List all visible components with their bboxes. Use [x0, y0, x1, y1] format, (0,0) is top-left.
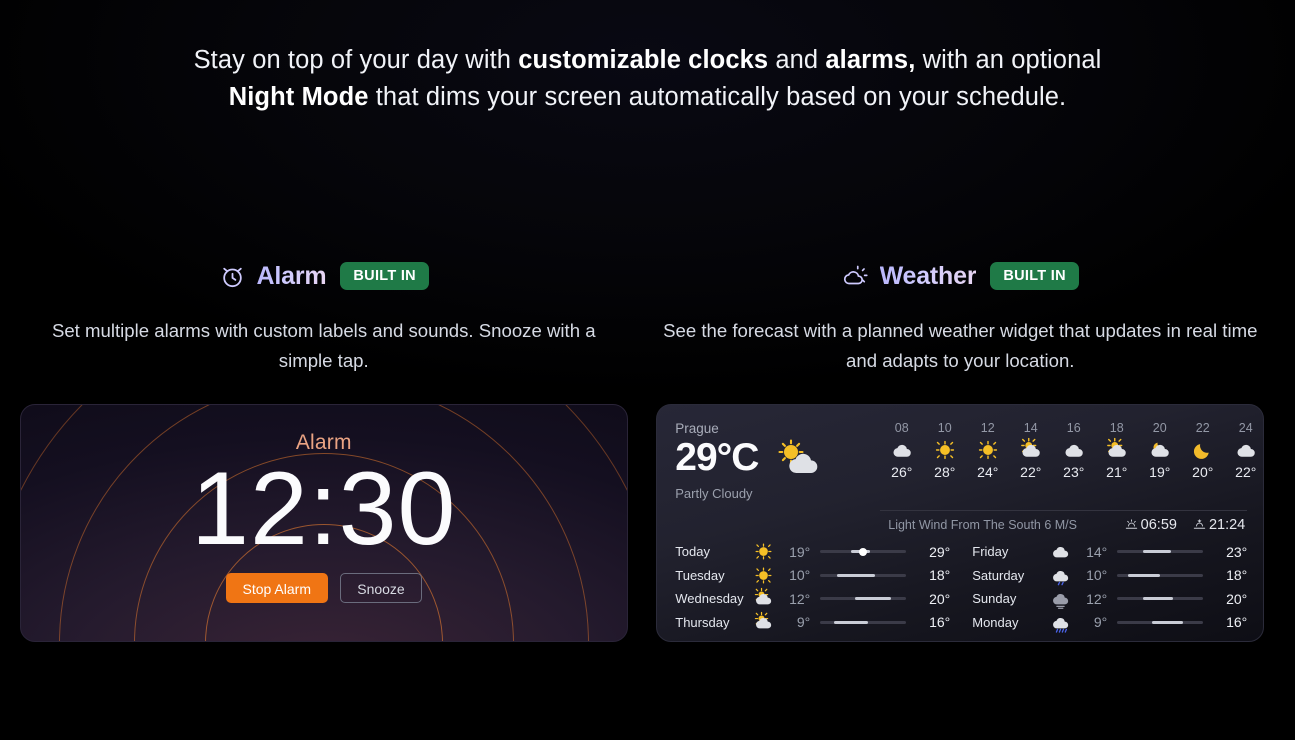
daily-column-left: Today19°29°Tuesday10°18°Wednesday12°20°T… [675, 540, 950, 634]
daily-low-temperature: 9° [776, 614, 810, 630]
weather-condition-text: Partly Cloudy [675, 486, 880, 501]
hourly-temperature: 21° [1095, 464, 1138, 480]
hourly-sun-cloud-icon [1095, 437, 1138, 463]
daily-high-temperature: 18° [1213, 567, 1247, 583]
headline-text: and [768, 46, 825, 74]
hourly-temperature: 22° [1224, 464, 1264, 480]
daily-low-temperature: 12° [1073, 591, 1107, 607]
daily-high-temperature: 18° [916, 567, 950, 583]
daily-fog-icon [1047, 588, 1073, 609]
weather-current-temperature: 29°C [675, 437, 758, 480]
daily-temperature-bar [1117, 621, 1203, 624]
sunrise-item: 06:59 [1125, 517, 1177, 533]
snooze-button[interactable]: Snooze [340, 573, 422, 603]
daily-low-temperature: 12° [776, 591, 810, 607]
hourly-temperature: 20° [1181, 464, 1224, 480]
daily-high-temperature: 16° [916, 614, 950, 630]
headline-text: with an optional [915, 46, 1101, 74]
daily-high-temperature: 29° [916, 544, 950, 560]
alarm-widget-card: Alarm 12:30 Stop Alarm Snooze [20, 404, 628, 642]
hourly-forecast-item: 1821° [1095, 421, 1138, 480]
hourly-time: 14 [1009, 421, 1052, 435]
hourly-cloud-icon [1224, 437, 1264, 463]
headline-text: that dims your screen automatically base… [369, 83, 1067, 111]
hourly-cloud-icon [880, 437, 923, 463]
daily-temperature-range [1143, 597, 1173, 600]
hourly-sun-icon [923, 437, 966, 463]
hourly-time: 18 [1095, 421, 1138, 435]
weather-current-block: Prague 29°C [675, 419, 880, 501]
feature-description-weather: See the forecast with a planned weather … [658, 316, 1264, 376]
badge-built-in-weather: BUILT IN [990, 262, 1079, 291]
daily-day-name: Saturday [972, 568, 1047, 583]
daily-high-temperature: 20° [1213, 591, 1247, 607]
daily-temperature-bar [1117, 574, 1203, 577]
daily-forecast-row: Friday14°23° [972, 540, 1247, 564]
hourly-forecast-item: 1623° [1052, 421, 1095, 480]
hourly-time: 10 [923, 421, 966, 435]
daily-sun-cloud-icon [750, 588, 776, 609]
weather-city-name: Prague [675, 421, 880, 436]
daily-forecast-row: Tuesday10°18° [675, 563, 950, 587]
hourly-temperature: 28° [923, 464, 966, 480]
daily-temperature-bar [1117, 597, 1203, 600]
daily-temperature-range [855, 597, 891, 600]
weather-widget-card: Prague 29°C [656, 404, 1264, 642]
daily-day-name: Monday [972, 615, 1047, 630]
alarm-time-display: 12:30 [191, 451, 456, 567]
hourly-forecast-item: 0826° [880, 421, 923, 480]
stop-alarm-button[interactable]: Stop Alarm [226, 573, 328, 603]
daily-low-temperature: 14° [1073, 544, 1107, 560]
feature-columns: Alarm BUILT IN Set multiple alarms with … [0, 258, 1295, 642]
sun-behind-cloud-icon [842, 263, 869, 290]
hourly-temperature: 26° [880, 464, 923, 480]
hourly-temperature: 23° [1052, 464, 1095, 480]
hourly-moon-cloud-icon [1138, 437, 1181, 463]
daily-day-name: Wednesday [675, 591, 750, 606]
daily-sun-icon [750, 565, 776, 586]
daily-temperature-range [1128, 574, 1160, 577]
feature-header-weather: Weather BUILT IN [842, 258, 1079, 294]
daily-high-temperature: 23° [1213, 544, 1247, 560]
weather-wind-text: Light Wind From The South 6 M/S [888, 518, 1077, 532]
daily-temperature-bar [1117, 550, 1203, 553]
hourly-temperature: 24° [966, 464, 1009, 480]
daily-forecast-row: Today19°29° [675, 540, 950, 564]
hourly-forecast-item: 2019° [1138, 421, 1181, 480]
daily-day-name: Today [675, 544, 750, 559]
sunset-time: 21:24 [1209, 517, 1245, 533]
sunrise-time: 06:59 [1141, 517, 1177, 533]
badge-built-in-alarm: BUILT IN [340, 262, 429, 291]
hourly-time: 20 [1138, 421, 1181, 435]
sunset-icon [1193, 518, 1206, 531]
daily-current-marker [859, 548, 867, 556]
hourly-time: 24 [1224, 421, 1264, 435]
daily-forecast-row: Saturday10°18° [972, 563, 1247, 587]
daily-temperature-bar [820, 597, 906, 600]
daily-temperature-bar [820, 550, 906, 553]
sunrise-icon [1125, 518, 1138, 531]
daily-rain-light-icon [1047, 565, 1073, 586]
hourly-time: 22 [1181, 421, 1224, 435]
daily-forecast-row: Sunday12°20° [972, 587, 1247, 611]
weather-sun-times: 06:59 21:24 [1125, 517, 1246, 533]
hourly-sun-cloud-icon [1009, 437, 1052, 463]
hourly-forecast-item: 1028° [923, 421, 966, 480]
daily-sun-cloud-icon [750, 612, 776, 633]
headline-line2: Night Mode that dims your screen automat… [229, 83, 1067, 111]
feature-column-alarm: Alarm BUILT IN Set multiple alarms with … [0, 258, 648, 642]
headline-emphasis-alarms: alarms, [825, 46, 915, 74]
daily-temperature-range [1143, 550, 1171, 553]
hourly-sun-icon [966, 437, 1009, 463]
daily-temperature-range [837, 574, 875, 577]
hourly-temperature: 22° [1009, 464, 1052, 480]
hourly-forecast-item: 2422° [1224, 421, 1264, 480]
daily-day-name: Friday [972, 544, 1047, 559]
daily-high-temperature: 16° [1213, 614, 1247, 630]
hourly-forecast-item: 2220° [1181, 421, 1224, 480]
hourly-forecast-item: 1422° [1009, 421, 1052, 480]
daily-low-temperature: 10° [1073, 567, 1107, 583]
feature-header-alarm: Alarm BUILT IN [219, 258, 429, 294]
daily-low-temperature: 10° [776, 567, 810, 583]
daily-temperature-range [1152, 621, 1183, 624]
weather-meta-row: Light Wind From The South 6 M/S 06:59 [880, 511, 1247, 533]
feature-column-weather: Weather BUILT IN See the forecast with a… [648, 258, 1295, 642]
alarm-clock-icon [219, 263, 246, 290]
daily-forecast-row: Wednesday12°20° [675, 587, 950, 611]
alarm-action-buttons: Stop Alarm Snooze [226, 573, 422, 603]
feature-title-weather: Weather [880, 262, 977, 291]
hourly-forecast-item: 1224° [966, 421, 1009, 480]
feature-description-alarm: Set multiple alarms with custom labels a… [24, 316, 624, 376]
hourly-cloud-icon [1052, 437, 1095, 463]
daily-day-name: Tuesday [675, 568, 750, 583]
daily-temperature-bar [820, 574, 906, 577]
daily-sun-icon [750, 541, 776, 562]
headline-text: Stay on top of your day with [194, 46, 519, 74]
weather-current-row: 29°C [675, 437, 880, 480]
page-root: Stay on top of your day with customizabl… [0, 0, 1295, 740]
weather-daily-forecast: Today19°29°Tuesday10°18°Wednesday12°20°T… [675, 540, 1247, 634]
daily-day-name: Sunday [972, 591, 1047, 606]
daily-day-name: Thursday [675, 615, 750, 630]
weather-current-condition-icon [766, 438, 822, 478]
headline-emphasis-night-mode: Night Mode [229, 83, 369, 111]
daily-cloud-icon [1047, 541, 1073, 562]
sunset-item: 21:24 [1193, 517, 1245, 533]
daily-rain-heavy-icon [1047, 612, 1073, 633]
daily-forecast-row: Monday9°16° [972, 611, 1247, 635]
alarm-widget-content: Alarm 12:30 Stop Alarm Snooze [21, 405, 627, 641]
weather-hourly-forecast: 0826°1028°1224°1422°1623°1821°2019°2220°… [880, 419, 1264, 480]
headline-line1: Stay on top of your day with customizabl… [194, 46, 1102, 74]
hourly-time: 12 [966, 421, 1009, 435]
daily-temperature-range [834, 621, 868, 624]
hourly-temperature: 19° [1138, 464, 1181, 480]
feature-title-alarm: Alarm [257, 262, 327, 291]
weather-top-section: Prague 29°C [675, 419, 1247, 501]
page-headline: Stay on top of your day with customizabl… [0, 42, 1295, 116]
hourly-time: 08 [880, 421, 923, 435]
hourly-time: 16 [1052, 421, 1095, 435]
daily-low-temperature: 9° [1073, 614, 1107, 630]
daily-forecast-row: Thursday9°16° [675, 611, 950, 635]
daily-temperature-bar [820, 621, 906, 624]
daily-high-temperature: 20° [916, 591, 950, 607]
headline-emphasis-clocks: customizable clocks [518, 46, 768, 74]
daily-column-right: Friday14°23°Saturday10°18°Sunday12°20°Mo… [972, 540, 1247, 634]
hourly-moon-icon [1181, 437, 1224, 463]
daily-low-temperature: 19° [776, 544, 810, 560]
